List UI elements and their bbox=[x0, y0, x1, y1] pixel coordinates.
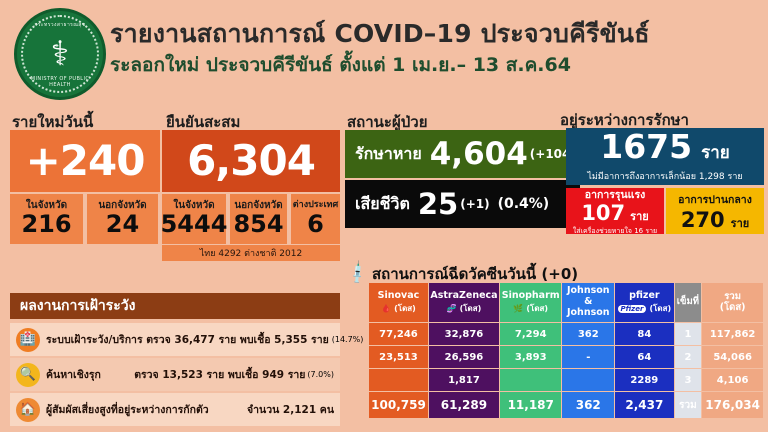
cumulative-foreign: ต่างประเทศ 6 bbox=[291, 194, 340, 244]
column-brand: 🌿 (โดส) bbox=[500, 304, 562, 313]
cell-johnson bbox=[562, 369, 615, 392]
severe-note: ใส่เครื่องช่วยหายใจ 16 ราย bbox=[573, 226, 657, 237]
column-header-astrazeneca: AstraZeneca 🧬 (โดส) bbox=[428, 283, 499, 323]
column-header-johnson: Johnson & Johnson bbox=[562, 283, 615, 323]
surveillance-row: 🏥 ระบบเฝ้าระวัง/บริการ ตรวจ 36,477 ราย พ… bbox=[10, 323, 340, 356]
new-cases-value: +240 bbox=[26, 140, 145, 182]
cell-astrazeneca: 32,876 bbox=[428, 323, 499, 346]
severe-box: อาการรุนแรง 107 ราย ใส่เครื่องช่วยหายใจ … bbox=[566, 188, 664, 234]
column-unit: (โดส) bbox=[526, 304, 548, 313]
recovered-value: 4,604 bbox=[430, 139, 528, 170]
table-row: 1,817 2289 3 4,106 bbox=[369, 369, 764, 392]
moderate-box: อาการปานกลาง 270 ราย bbox=[666, 188, 764, 234]
covid-dashboard: กระทรวงสาธารณสุข ⚕ MINISTRY OF PUBLIC HE… bbox=[0, 0, 768, 432]
ministry-of-public-health-logo: กระทรวงสาธารณสุข ⚕ MINISTRY OF PUBLIC HE… bbox=[14, 8, 106, 100]
column-name: รวม bbox=[702, 292, 763, 303]
cumulative-in-province: ในจังหวัด 5444 bbox=[162, 194, 228, 244]
cell-total: 4,106 bbox=[702, 369, 764, 392]
table-row: 23,513 26,596 3,893 - 64 2 54,066 bbox=[369, 346, 764, 369]
total-sinovac: 100,759 bbox=[369, 392, 429, 419]
cell-dose: 3 bbox=[674, 369, 702, 392]
new-cases-in-province: ในจังหวัด 216 bbox=[10, 194, 85, 244]
cell-total: 54,066 bbox=[702, 346, 764, 369]
treatment-mild-note: ไม่มีอาการถึงอาการเล็กน้อย 1,298 ราย bbox=[587, 169, 742, 183]
cell-pfizer: 84 bbox=[615, 323, 675, 346]
cell-sinopharm bbox=[499, 369, 562, 392]
total-astrazeneca: 61,289 bbox=[428, 392, 499, 419]
column-header-total: รวม (โดส) bbox=[702, 283, 764, 323]
cell-johnson: 362 bbox=[562, 323, 615, 346]
column-name: Sinopharm bbox=[500, 291, 562, 302]
page-title: รายงานสถานการณ์ COVID–19 ประจวบคีรีขันธ์ bbox=[110, 14, 760, 54]
astrazeneca-logo-icon: 🧬 bbox=[447, 304, 457, 313]
vaccine-table-header-row: Sinovac 🩸 (โดส) AstraZeneca 🧬 (โดส) Sino… bbox=[369, 283, 764, 323]
cell-pfizer: 64 bbox=[615, 346, 675, 369]
new-cases-in-province-value: 216 bbox=[21, 212, 71, 237]
surveillance-row-value: ตรวจ 13,523 ราย พบเชื้อ 949 ราย bbox=[134, 366, 311, 383]
surveillance-row-pct: (7.0%) bbox=[307, 370, 340, 379]
cumulative-footnote: ไทย 4292 ต่างชาติ 2012 bbox=[162, 245, 340, 261]
cell-total: 117,862 bbox=[702, 323, 764, 346]
column-unit: (โดส) bbox=[394, 304, 416, 313]
surveillance-row-pct: (14.7%) bbox=[332, 335, 364, 344]
hospital-icon: 🏥 bbox=[16, 328, 40, 352]
treatment-total-unit: ราย bbox=[701, 139, 730, 166]
moderate-label: อาการปานกลาง bbox=[678, 191, 752, 208]
home-icon: 🏠 bbox=[16, 398, 40, 422]
surveillance-row: 🏠 ผู้สัมผัสเสี่ยงสูงที่อยู่ระหว่างการกัก… bbox=[10, 393, 340, 426]
column-name: Sinovac bbox=[369, 291, 428, 302]
column-header-dose: เข็มที่ bbox=[674, 283, 702, 323]
cell-sinovac: 77,246 bbox=[369, 323, 429, 346]
total-johnson: 362 bbox=[562, 392, 615, 419]
cell-astrazeneca: 26,596 bbox=[428, 346, 499, 369]
logo-bottom-text: MINISTRY OF PUBLIC HEALTH bbox=[23, 76, 97, 88]
treatment-total-box: 1675 ราย ไม่มีอาการถึงอาการเล็กน้อย 1,29… bbox=[566, 128, 764, 185]
treatment-total-value: 1675 bbox=[600, 130, 692, 163]
cumulative-out-province: นอกจังหวัด 854 bbox=[230, 194, 289, 244]
cumulative-foreign-value: 6 bbox=[307, 212, 324, 237]
cell-dose: 2 bbox=[674, 346, 702, 369]
sinopharm-logo-icon: 🌿 bbox=[513, 304, 523, 313]
severe-value: 107 bbox=[581, 203, 625, 224]
surveillance-row-label: ระบบเฝ้าระวัง/บริการ ตรวจ 36,477 ราย พบเ… bbox=[46, 331, 329, 348]
moderate-unit: ราย bbox=[731, 214, 750, 232]
new-cases-box: +240 bbox=[10, 130, 160, 192]
column-name: Johnson & bbox=[562, 286, 614, 308]
surveillance-row-label: ค้นหาเชิงรุก bbox=[46, 366, 101, 383]
surveillance-row: 🔍 ค้นหาเชิงรุก ตรวจ 13,523 ราย พบเชื้อ 9… bbox=[10, 358, 340, 391]
surveillance-row-value: จำนวน 2,121 คน bbox=[247, 401, 340, 418]
column-name: AstraZeneca bbox=[429, 291, 499, 302]
column-unit: Johnson bbox=[562, 308, 614, 319]
caduceus-icon: ⚕ bbox=[51, 37, 69, 71]
column-header-sinovac: Sinovac 🩸 (โดส) bbox=[369, 283, 429, 323]
cell-sinovac bbox=[369, 369, 429, 392]
cell-astrazeneca: 1,817 bbox=[428, 369, 499, 392]
column-brand: 🩸 (โดส) bbox=[369, 304, 428, 313]
total-pfizer: 2,437 bbox=[615, 392, 675, 419]
cumulative-box: 6,304 bbox=[162, 130, 340, 192]
table-total-row: 100,759 61,289 11,187 362 2,437 รวม 176,… bbox=[369, 392, 764, 419]
cell-johnson: - bbox=[562, 346, 615, 369]
column-unit: (โดส) bbox=[649, 304, 671, 313]
death-delta: (+1) bbox=[460, 197, 489, 211]
column-brand: Pfizer (โดส) bbox=[615, 304, 674, 313]
death-label: เสียชีวิต bbox=[355, 192, 410, 217]
total-sinopharm: 11,187 bbox=[499, 392, 562, 419]
new-cases-out-province: นอกจังหวัด 24 bbox=[87, 194, 160, 244]
vaccine-table: Sinovac 🩸 (โดส) AstraZeneca 🧬 (โดส) Sino… bbox=[368, 282, 764, 419]
surveillance-header: ผลงานการเฝ้าระวัง bbox=[10, 293, 340, 319]
recovered-box: รักษาหาย 4,604 (+104) bbox=[345, 130, 580, 178]
column-header-pfizer: pfizer Pfizer (โดส) bbox=[615, 283, 675, 323]
column-name: เข็มที่ bbox=[675, 297, 702, 308]
death-value: 25 bbox=[418, 190, 458, 219]
new-cases-out-province-value: 24 bbox=[106, 212, 139, 237]
total-dose-label: รวม bbox=[674, 392, 702, 419]
cell-dose: 1 bbox=[674, 323, 702, 346]
death-box: เสียชีวิต 25 (+1) (0.4%) bbox=[345, 180, 580, 228]
severe-unit: ราย bbox=[630, 207, 649, 225]
magnifier-icon: 🔍 bbox=[16, 363, 40, 387]
column-unit: (โดส) bbox=[702, 303, 763, 314]
column-header-sinopharm: Sinopharm 🌿 (โดส) bbox=[499, 283, 562, 323]
header: กระทรวงสาธารณสุข ⚕ MINISTRY OF PUBLIC HE… bbox=[0, 0, 768, 100]
cell-sinopharm: 7,294 bbox=[499, 323, 562, 346]
page-subtitle: ระลอกใหม่ ประจวบคีรีขันธ์ ตั้งแต่ 1 เม.ย… bbox=[110, 50, 765, 80]
column-brand: 🧬 (โดส) bbox=[429, 304, 499, 313]
cell-pfizer: 2289 bbox=[615, 369, 675, 392]
severe-label: อาการรุนแรง bbox=[585, 186, 645, 203]
table-row: 77,246 32,876 7,294 362 84 1 117,862 bbox=[369, 323, 764, 346]
moderate-value: 270 bbox=[681, 210, 725, 231]
column-name: pfizer bbox=[615, 291, 674, 302]
surveillance-row-label: ผู้สัมผัสเสี่ยงสูงที่อยู่ระหว่างการกักตั… bbox=[46, 401, 209, 418]
cumulative-value: 6,304 bbox=[187, 140, 315, 182]
cumulative-out-province-value: 854 bbox=[233, 212, 283, 237]
death-percentage: (0.4%) bbox=[498, 196, 550, 212]
cell-sinopharm: 3,893 bbox=[499, 346, 562, 369]
recovered-label: รักษาหาย bbox=[355, 142, 422, 167]
cell-sinovac: 23,513 bbox=[369, 346, 429, 369]
logo-top-text: กระทรวงสาธารณสุข bbox=[23, 21, 97, 29]
total-grand: 176,034 bbox=[702, 392, 764, 419]
sinovac-logo-icon: 🩸 bbox=[381, 304, 391, 313]
logo-ring: กระทรวงสาธารณสุข ⚕ MINISTRY OF PUBLIC HE… bbox=[21, 15, 99, 93]
column-unit: (โดส) bbox=[460, 304, 482, 313]
pfizer-logo-icon: Pfizer bbox=[618, 305, 647, 313]
cumulative-in-province-value: 5444 bbox=[161, 212, 228, 237]
